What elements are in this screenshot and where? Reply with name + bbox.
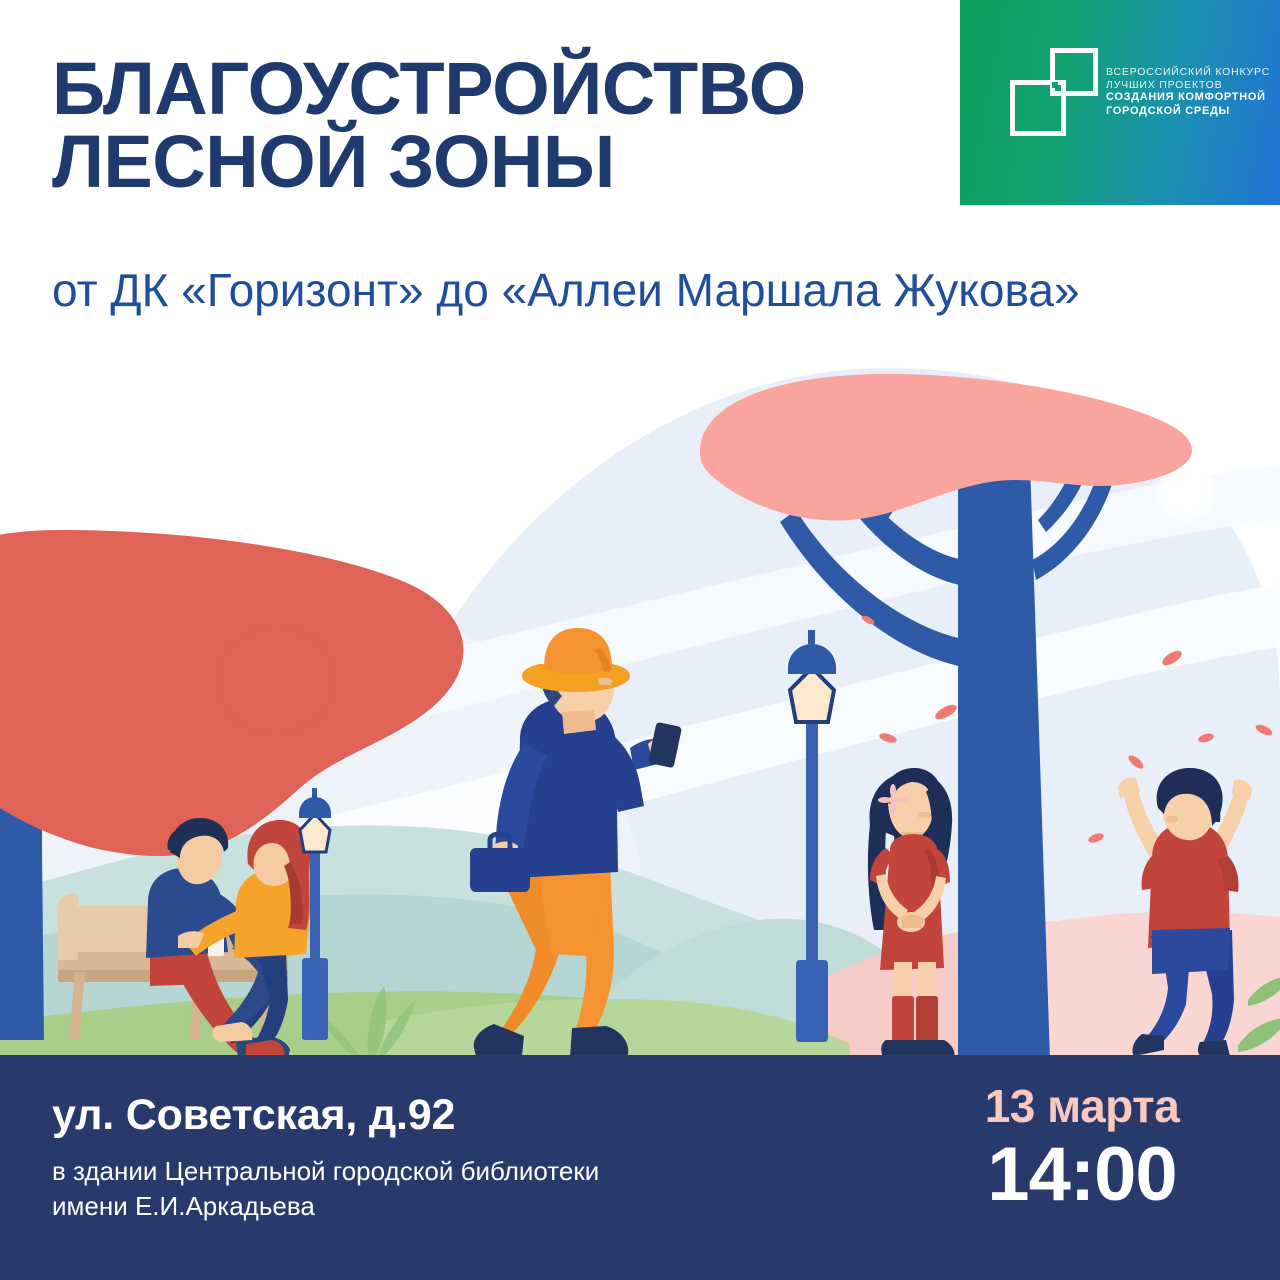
two-squares-mark-icon (1010, 48, 1098, 136)
address-sub-line-2: имени Е.И.Аркадьева (52, 1189, 912, 1224)
poster-footer: ул. Советская, д.92 в здании Центральной… (0, 1055, 1280, 1280)
logo-text-block: Всероссийский конкурс лучших проектов Со… (1106, 66, 1270, 118)
footer-address-block: ул. Советская, д.92 в здании Центральной… (52, 1091, 912, 1224)
event-time: 14:00 (932, 1135, 1232, 1215)
competition-logo: Всероссийский конкурс лучших проектов Со… (960, 0, 1280, 205)
poster-root: БЛАГОУСТРОЙСТВО ЛЕСНОЙ ЗОНЫ от ДК «Гориз… (0, 0, 1280, 1280)
logo-line-3: Создания комфортной (1106, 91, 1270, 104)
coral-blob-small (218, 626, 334, 734)
logo-line-4: городской среды (1106, 105, 1270, 118)
logo-line-2: лучших проектов (1106, 79, 1270, 92)
address-line: ул. Советская, д.92 (52, 1091, 912, 1140)
address-sub-line-1: в здании Центральной городской библиотек… (52, 1154, 912, 1189)
logo-square-small (1050, 48, 1098, 96)
logo-center-dot (1052, 82, 1058, 88)
footer-datetime-block: 13 марта 14:00 (932, 1079, 1232, 1215)
event-date: 13 марта (932, 1079, 1232, 1133)
logo-inner: Всероссийский конкурс лучших проектов Со… (1010, 48, 1270, 136)
briefcase-icon (470, 848, 530, 892)
logo-line-1: Всероссийский конкурс (1106, 66, 1270, 79)
